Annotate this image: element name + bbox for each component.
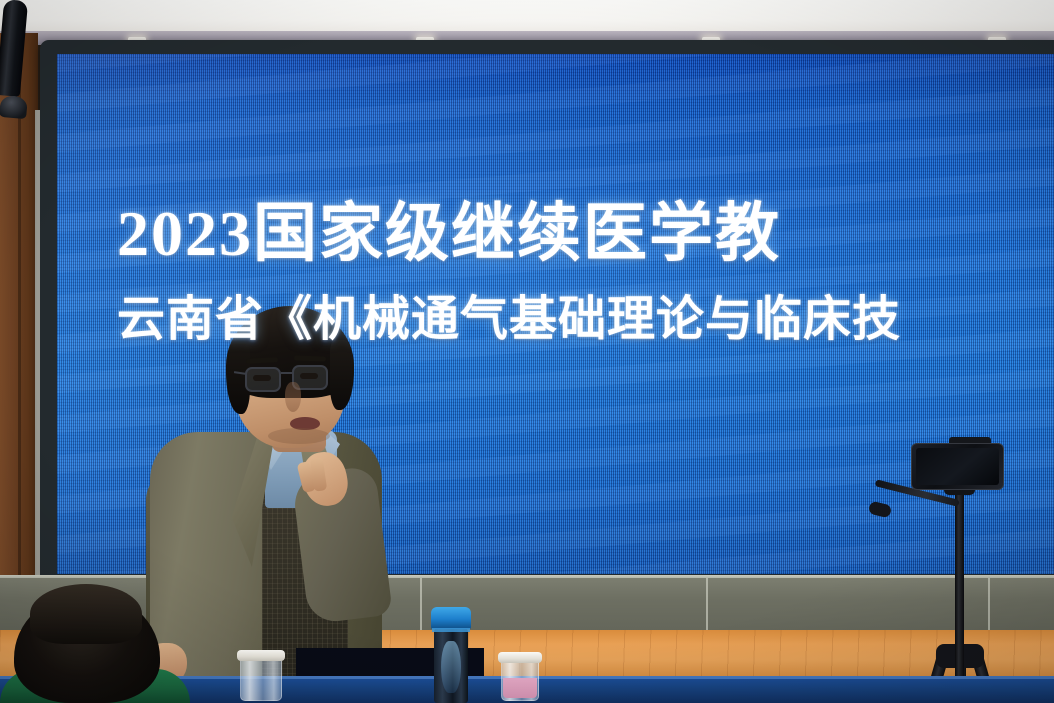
smartphone: [911, 443, 1004, 490]
seated-attendee-hair-top: [30, 584, 142, 644]
speaker-eyebrow-right: [294, 355, 326, 361]
eyeglasses-bridge: [281, 372, 293, 374]
cup-right-lid: [498, 652, 542, 663]
phone-screen: [916, 448, 999, 485]
speaker-eye-left: [253, 375, 271, 381]
water-glass-left: [240, 655, 282, 701]
water-bottle-cap: [431, 607, 471, 629]
stage-wall-seam: [706, 578, 708, 632]
speaker-nose: [285, 382, 301, 412]
water-glass-left-lid: [237, 650, 285, 661]
conference-photo-scene: 2023国家级继续医学教 云南省《机械通气基础理论与临床技: [0, 0, 1054, 703]
stage-wall-seam: [988, 578, 990, 632]
speaker-chin-shadow: [268, 428, 330, 444]
cup-right-contents: [503, 678, 537, 698]
stage-wall-seam: [420, 578, 422, 632]
speaker-eye-right: [300, 373, 318, 379]
tripod-column: [955, 487, 964, 692]
water-bottle-ring: [432, 628, 470, 632]
water-bottle-label: [441, 641, 461, 693]
slide-title-line-1: 2023国家级继续医学教: [117, 182, 781, 274]
slide-title-line-2: 云南省《机械通气基础理论与临床技: [117, 279, 901, 349]
